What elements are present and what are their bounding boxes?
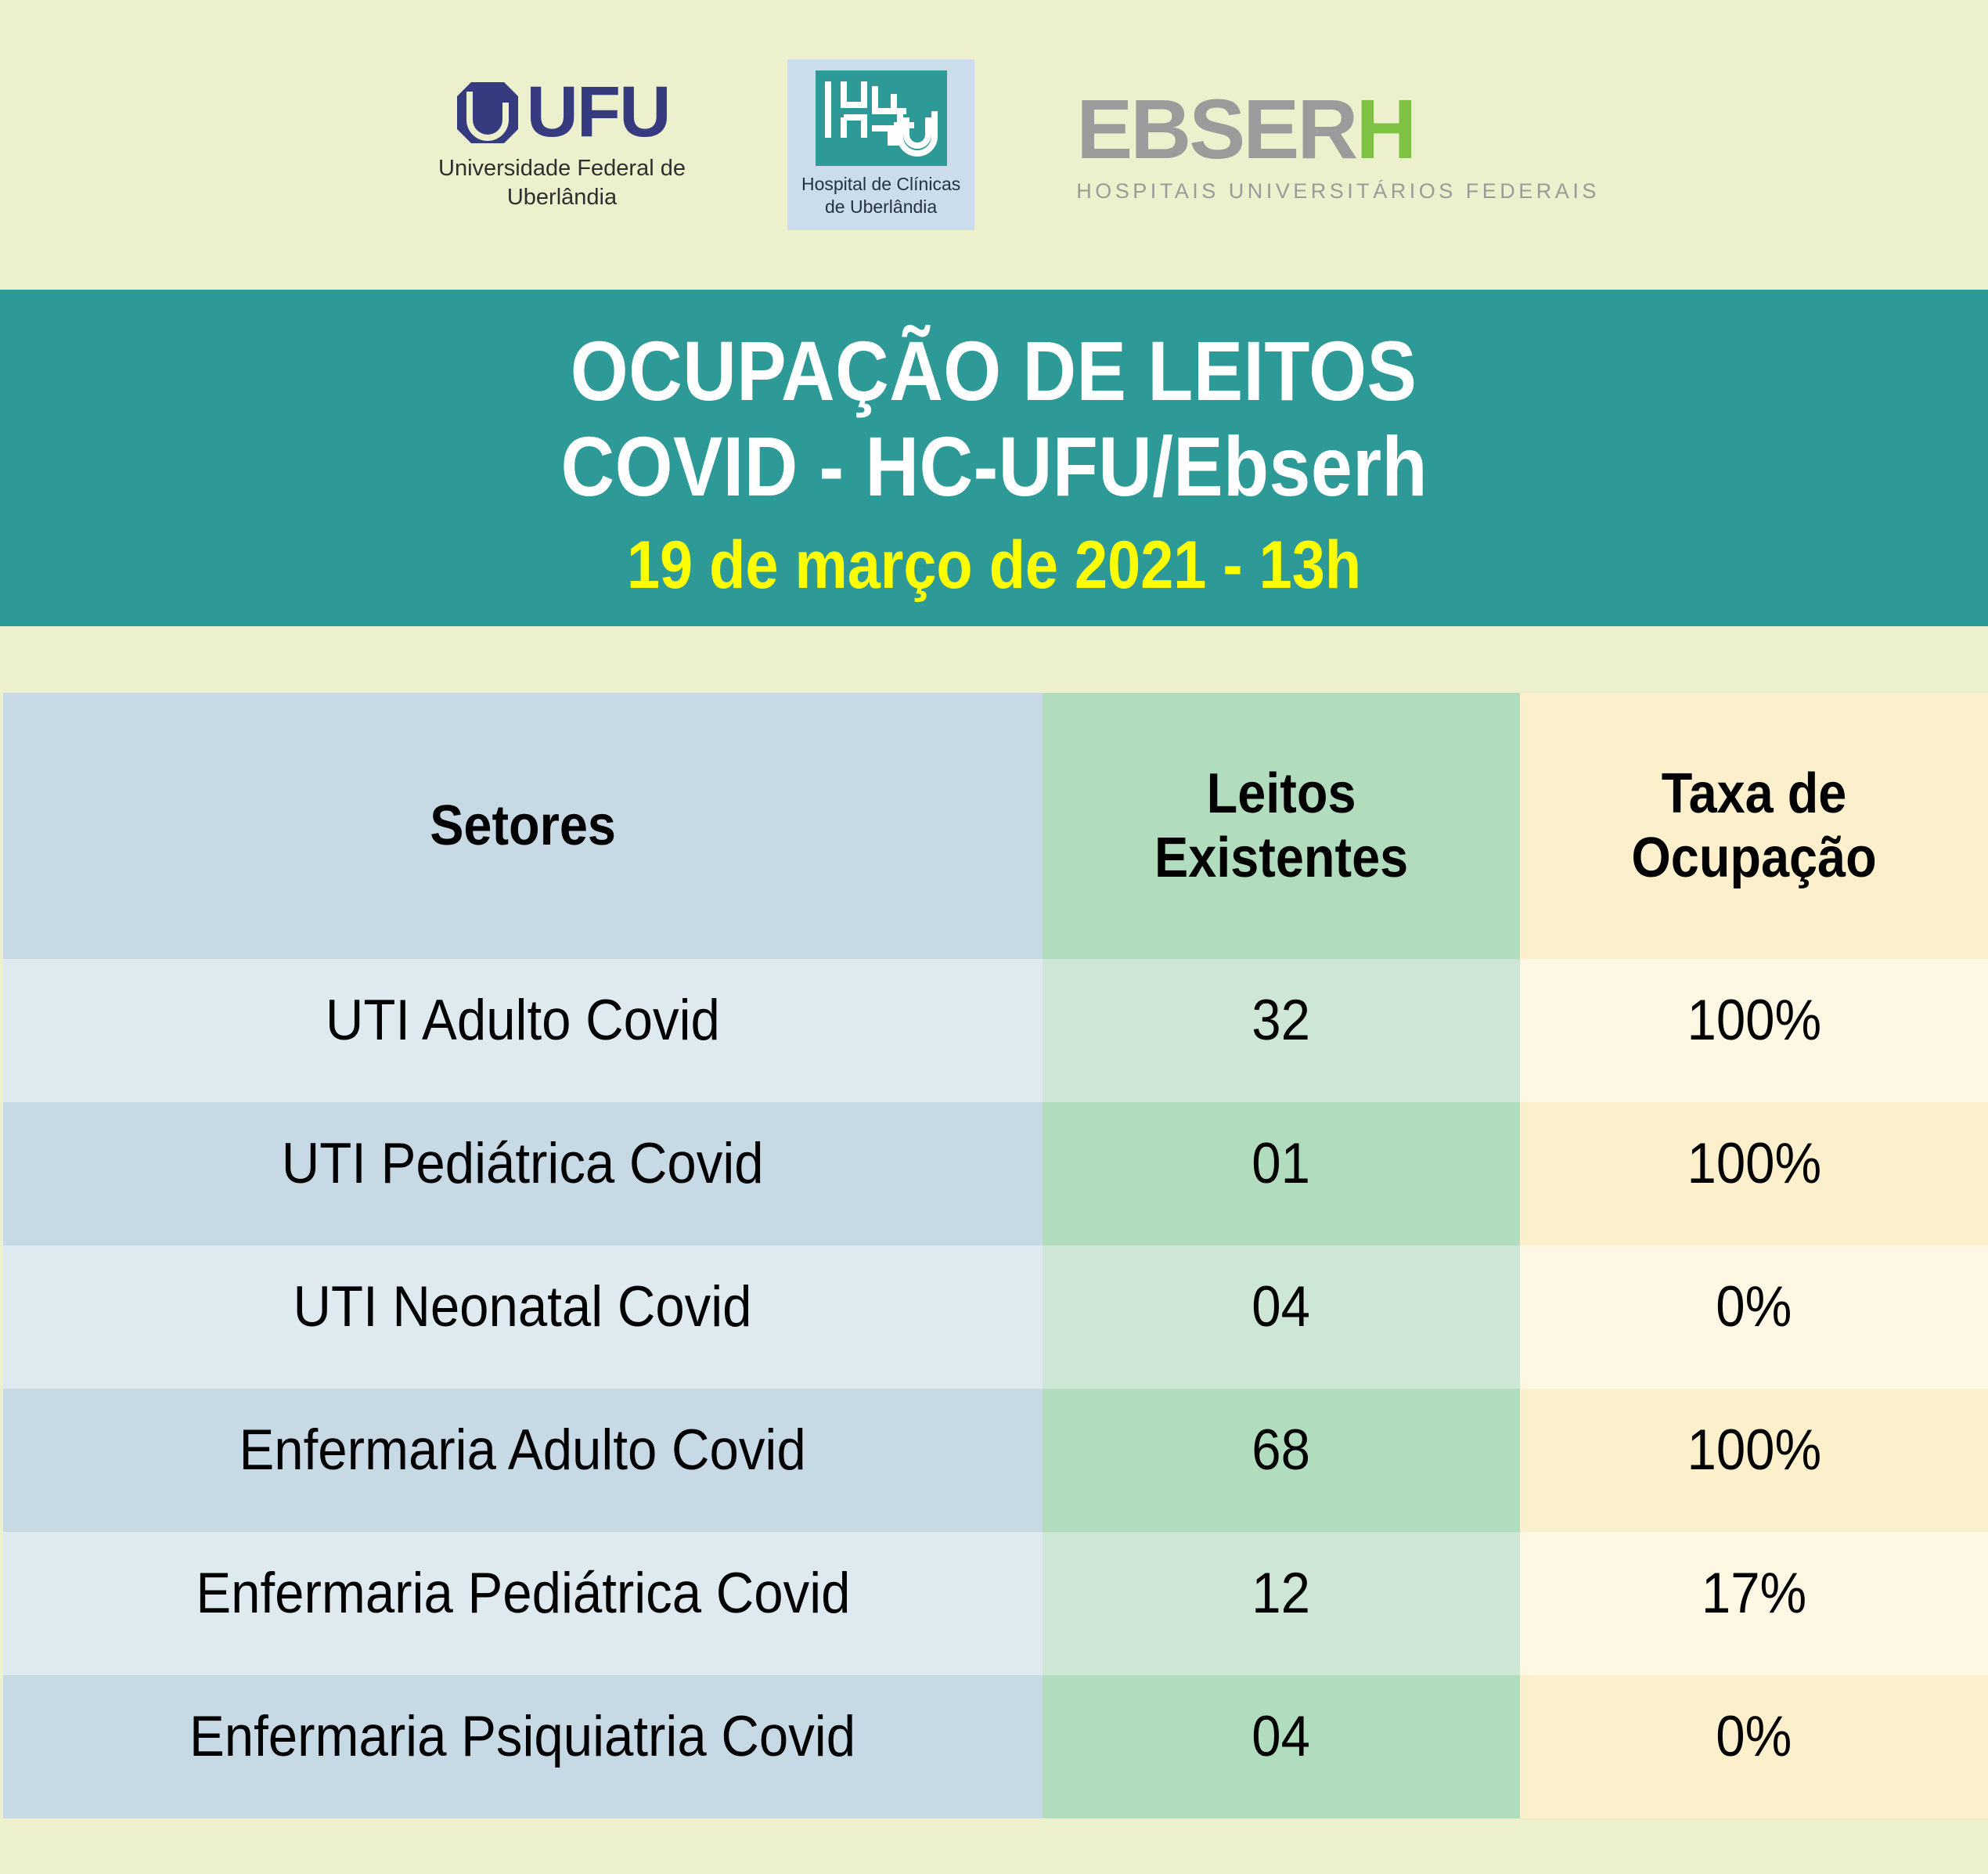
table-row: Enfermaria Pediátrica Covid 12 17% — [3, 1532, 1988, 1675]
hc-ufu-subtitle: Hospital de Clínicas de Uberlândia — [801, 173, 960, 218]
ufu-wordmark: UFU — [526, 78, 669, 146]
table-row: Enfermaria Psiquiatria Covid 04 0% — [3, 1675, 1988, 1818]
ufu-emblem-icon — [454, 79, 521, 146]
table-cell-sector-label: Enfermaria Psiquiatria Covid — [189, 1708, 855, 1786]
table-header-rate: Taxa de Ocupação — [1520, 693, 1988, 959]
ebserh-wordmark-green: H — [1356, 81, 1414, 176]
ufu-logo: UFU Universidade Federal de Uberlândia — [438, 78, 686, 211]
ufu-subtitle: Universidade Federal de Uberlândia — [438, 154, 686, 211]
table-header-rate-line1: Taxa de — [1631, 762, 1876, 826]
table-cell-beds: 04 — [1043, 1675, 1520, 1818]
table-cell-beds-value: 04 — [1252, 1708, 1311, 1786]
table-header-beds: Leitos Existentes — [1043, 693, 1520, 959]
ebserh-wordmark-gray: EBSER — [1076, 81, 1356, 176]
table-cell-rate-value: 100% — [1687, 1422, 1821, 1499]
table-cell-beds: 68 — [1043, 1389, 1520, 1532]
table-cell-beds: 01 — [1043, 1102, 1520, 1245]
table-header-sectors-label: Setores — [430, 794, 616, 858]
ebserh-wordmark: EBSERH — [1076, 87, 1414, 171]
ufu-subtitle-line1: Universidade Federal de — [438, 154, 686, 182]
table-cell-sector: Enfermaria Adulto Covid — [3, 1389, 1043, 1532]
hc-ufu-emblem-icon — [816, 70, 947, 166]
table-cell-sector-label: UTI Neonatal Covid — [294, 1278, 752, 1356]
table-cell-sector-label: UTI Adulto Covid — [326, 992, 720, 1069]
table-cell-sector: UTI Neonatal Covid — [3, 1245, 1043, 1389]
table-cell-beds-value: 32 — [1252, 992, 1311, 1069]
table-cell-beds: 04 — [1043, 1245, 1520, 1389]
logo-bar: UFU Universidade Federal de Uberlândia — [0, 0, 1988, 290]
hc-ufu-subtitle-line2: de Uberlândia — [801, 196, 960, 218]
table-row: Enfermaria Adulto Covid 68 100% — [3, 1389, 1988, 1532]
table-cell-sector: UTI Adulto Covid — [3, 959, 1043, 1102]
title-banner: OCUPAÇÃO DE LEITOS COVID - HC-UFU/Ebserh… — [0, 290, 1988, 626]
table-row: UTI Neonatal Covid 04 0% — [3, 1245, 1988, 1389]
table-cell-beds-value: 01 — [1252, 1135, 1311, 1213]
table-cell-beds: 32 — [1043, 959, 1520, 1102]
table-cell-rate-value: 0% — [1716, 1708, 1792, 1786]
table-header-sectors: Setores — [3, 693, 1043, 959]
table-cell-rate-value: 0% — [1716, 1278, 1792, 1356]
ebserh-subtitle: HOSPITAIS UNIVERSITÁRIOS FEDERAIS — [1076, 179, 1600, 204]
table-row: UTI Adulto Covid 32 100% — [3, 959, 1988, 1102]
table-cell-rate: 0% — [1520, 1675, 1988, 1818]
table-cell-sector-label: Enfermaria Pediátrica Covid — [196, 1565, 850, 1642]
table-row: UTI Pediátrica Covid 01 100% — [3, 1102, 1988, 1245]
table-cell-sector: UTI Pediátrica Covid — [3, 1102, 1043, 1245]
table-cell-rate: 100% — [1520, 1389, 1988, 1532]
ufu-mark-row: UFU — [454, 78, 669, 146]
table-header-row: Setores Leitos Existentes Taxa de Ocupaç… — [3, 693, 1988, 959]
banner-date: 19 de março de 2021 - 13h — [627, 532, 1361, 599]
table-cell-beds-value: 68 — [1252, 1422, 1311, 1499]
banner-title-line2: COVID - HC-UFU/Ebserh — [560, 419, 1428, 514]
table-cell-beds-value: 04 — [1252, 1278, 1311, 1356]
poster-root: UFU Universidade Federal de Uberlândia — [0, 0, 1988, 1874]
table-cell-sector: Enfermaria Pediátrica Covid — [3, 1532, 1043, 1675]
table-cell-rate-value: 17% — [1702, 1565, 1806, 1642]
ufu-subtitle-line2: Uberlândia — [438, 183, 686, 211]
table-header-rate-line2: Ocupação — [1631, 826, 1876, 890]
table-cell-rate: 100% — [1520, 1102, 1988, 1245]
table-cell-rate-value: 100% — [1687, 992, 1821, 1069]
hc-ufu-subtitle-line1: Hospital de Clínicas — [801, 173, 960, 196]
table-cell-rate: 0% — [1520, 1245, 1988, 1389]
table-cell-rate: 17% — [1520, 1532, 1988, 1675]
table-cell-sector: Enfermaria Psiquiatria Covid — [3, 1675, 1043, 1818]
table-cell-sector-label: Enfermaria Adulto Covid — [239, 1422, 806, 1499]
table-cell-beds: 12 — [1043, 1532, 1520, 1675]
table-cell-beds-value: 12 — [1252, 1565, 1311, 1642]
table-cell-sector-label: UTI Pediátrica Covid — [282, 1135, 764, 1213]
table-cell-rate-value: 100% — [1687, 1135, 1821, 1213]
table-header-beds-line1: Leitos — [1154, 762, 1408, 826]
hc-ufu-logo: Hospital de Clínicas de Uberlândia — [787, 59, 974, 231]
occupancy-table: Setores Leitos Existentes Taxa de Ocupaç… — [3, 693, 1988, 1874]
banner-title-line1: OCUPAÇÃO DE LEITOS — [571, 323, 1417, 419]
ebserh-logo: EBSERH HOSPITAIS UNIVERSITÁRIOS FEDERAIS — [1076, 87, 1600, 204]
table-header-beds-line2: Existentes — [1154, 826, 1408, 890]
table-cell-rate: 100% — [1520, 959, 1988, 1102]
